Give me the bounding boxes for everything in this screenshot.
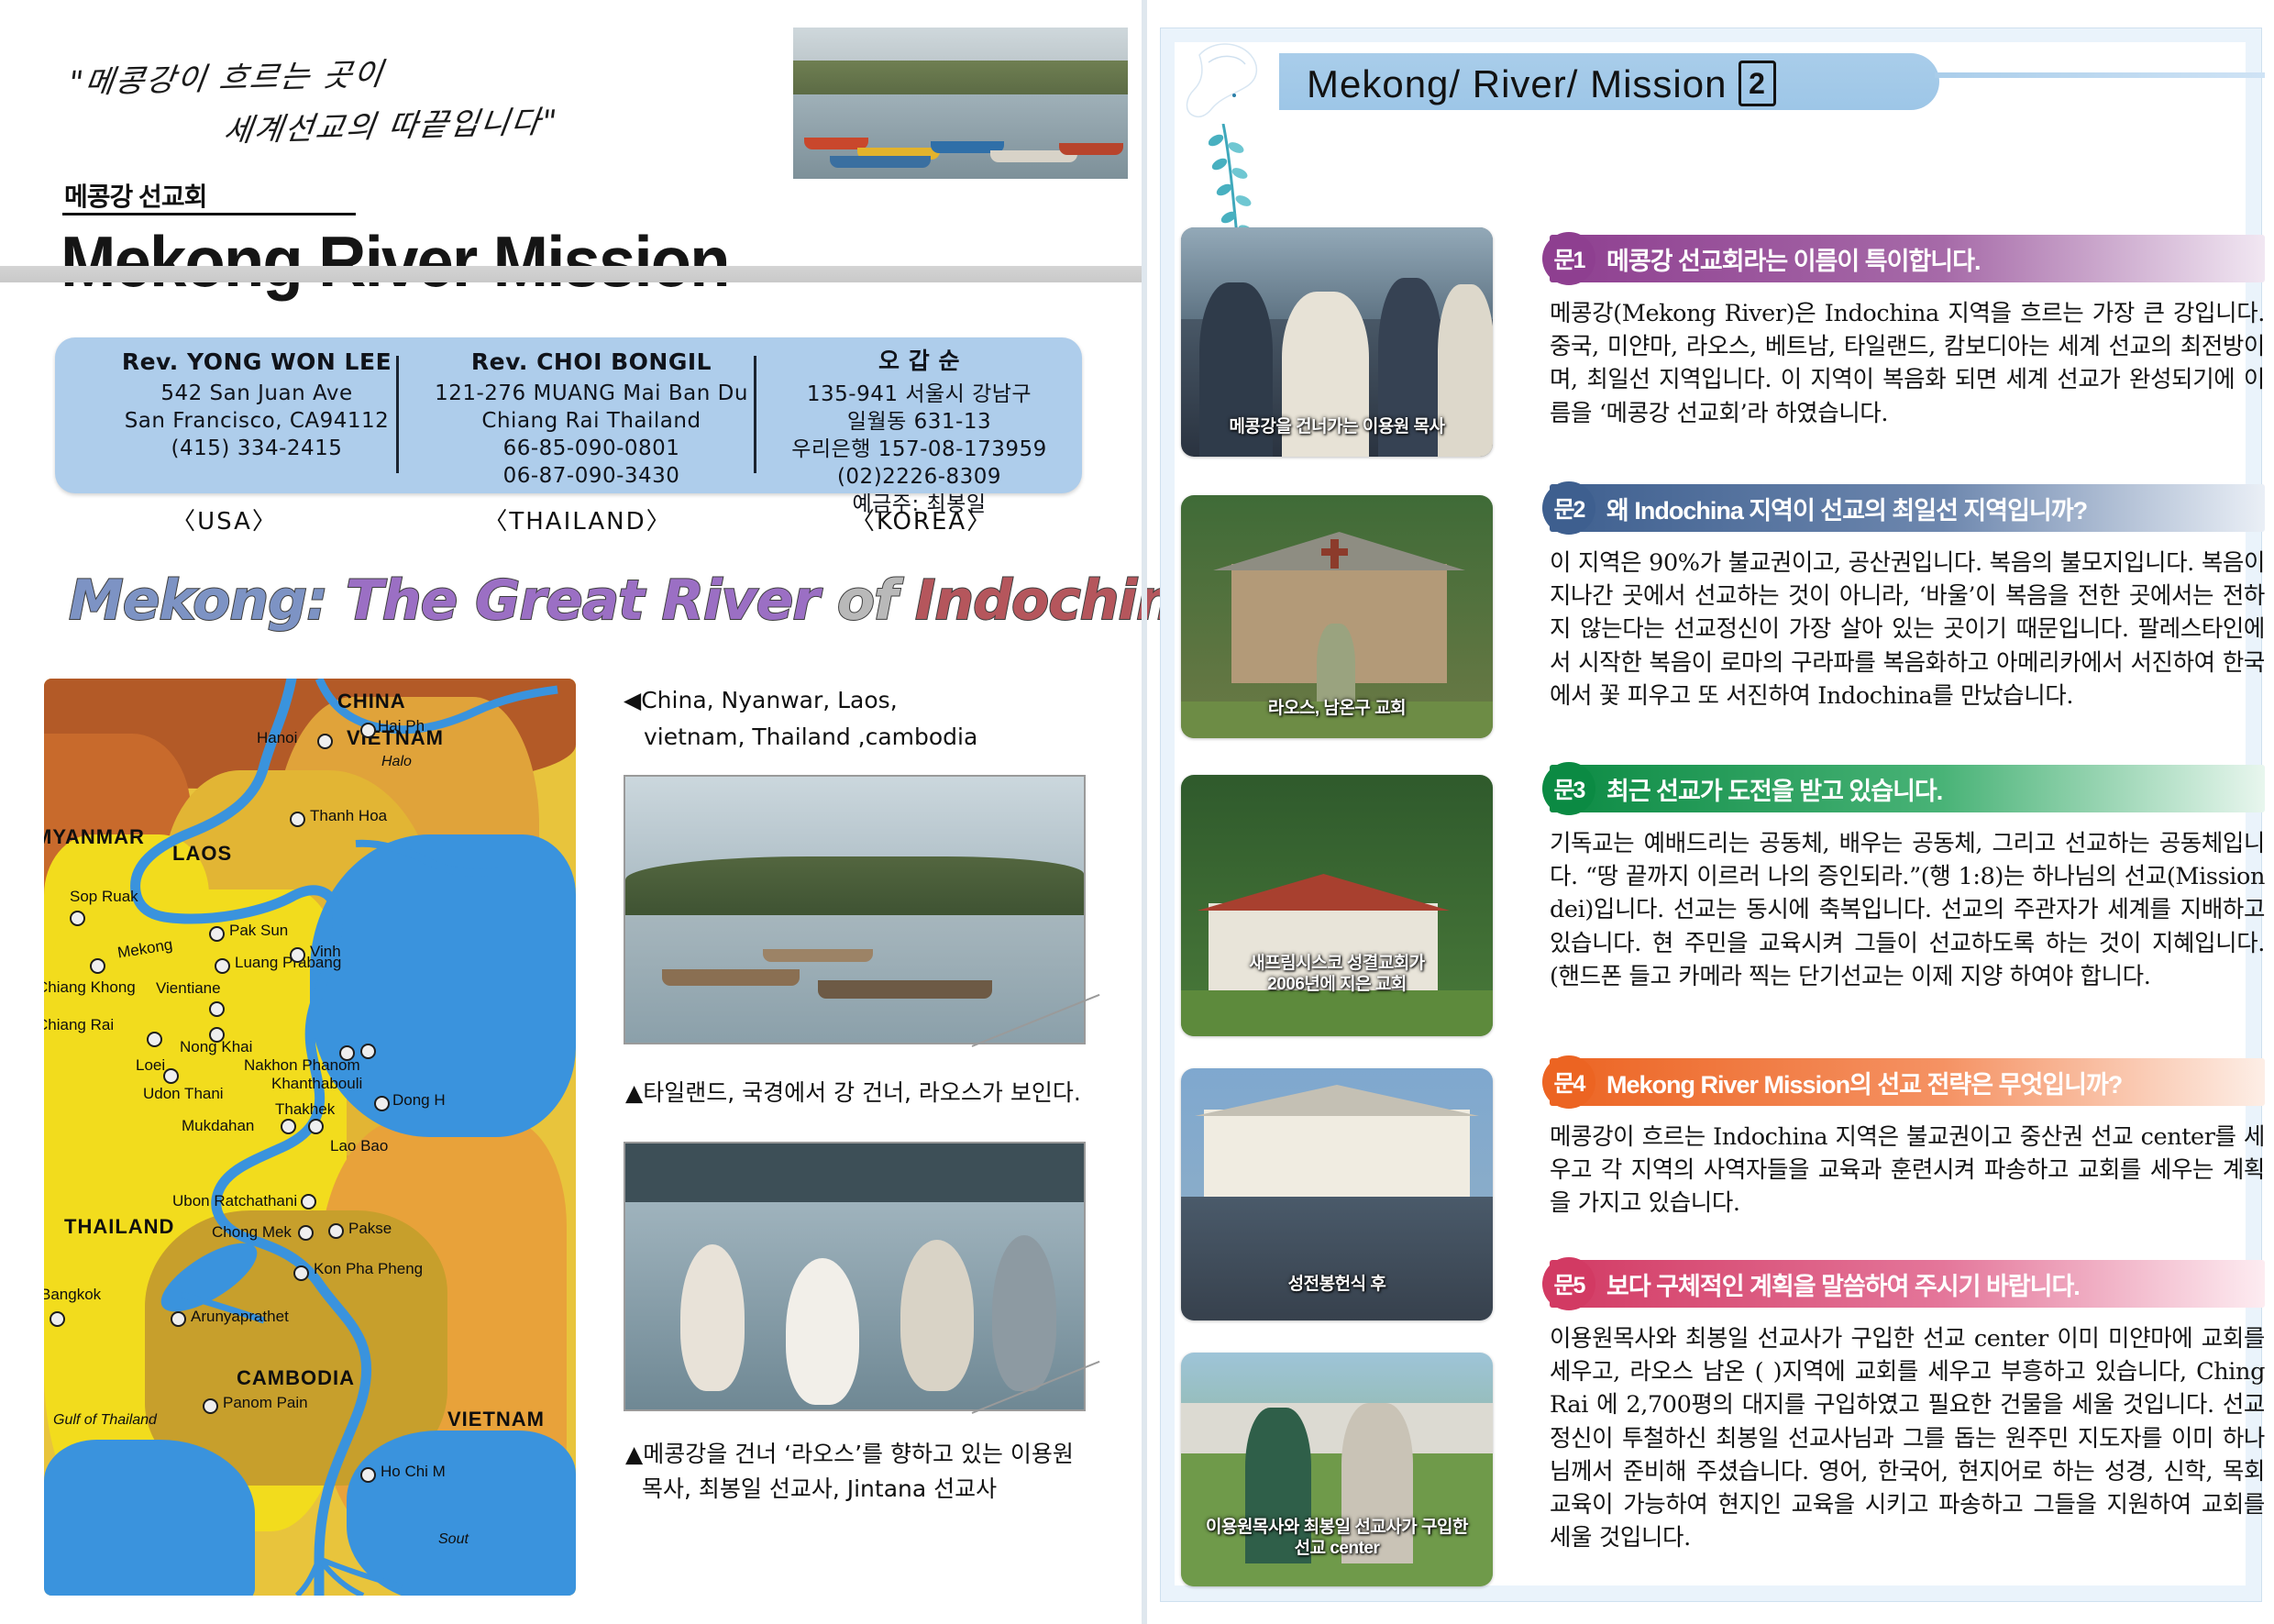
contact-line: (415) 334-2415: [64, 436, 449, 463]
caption-photo-3-line-2: 2006년에 지은 교회: [1181, 975, 1493, 996]
question-bar: 문5 보다 구체적인 계획을 말씀하여 주시기 바랍니다.: [1550, 1260, 2265, 1308]
question-badge: 문1: [1542, 232, 1595, 285]
cross-icon: [1321, 548, 1348, 556]
question-bar: 문2 왜 Indochina 지역이 선교의 최일선 지역입니까?: [1550, 484, 2265, 532]
answer-text: 메콩강(Mekong River)은 Indochina 지역을 흐르는 가장 …: [1550, 297, 2265, 430]
map-city-nong-khai: Nong Khai: [180, 1038, 252, 1056]
map-city-kon-pha-pheng: Kon Pha Pheng: [314, 1260, 423, 1278]
map-city-dot: [290, 947, 305, 963]
map-city-mukdahan: Mukdahan: [182, 1117, 254, 1135]
person-shape: [786, 1258, 859, 1405]
photo-hill: [625, 856, 1084, 915]
mekong-headline: Mekong: The Great River of Indochina: [69, 569, 1210, 633]
banner-title-text: Mekong/ River/ Mission: [1307, 62, 1727, 105]
question-bar: 문3 최근 선교가 도전을 받고 있습니다.: [1550, 765, 2265, 812]
question-badge: 문5: [1542, 1257, 1595, 1310]
map-city-chong-mek: Chong Mek: [212, 1223, 292, 1242]
contact-line: Chiang Rai Thailand: [403, 408, 779, 436]
map-city-khanthabouli: Khanthabouli: [271, 1075, 362, 1093]
brush-quote-line-1: "메콩강이 흐르는 곳이: [66, 49, 388, 103]
map-city-dot: [293, 1265, 309, 1281]
map-city-pak-sun: Pak Sun: [229, 922, 288, 940]
contact-name: Rev. CHOI BONGIL: [403, 348, 779, 375]
map-city-dot: [70, 911, 85, 926]
contact-line: San Francisco, CA94112: [64, 408, 449, 436]
indochina-map: CHINA MYANMAR LAOS VIETNAM THAILAND CAMB…: [44, 679, 576, 1596]
map-city-hai-phong: Hai Ph: [378, 717, 425, 735]
page-title: Mekong River Mission: [61, 220, 729, 304]
map-city-vientiane: Vientiane: [156, 979, 221, 998]
question-text: 최근 선교가 도전을 받고 있습니다.: [1606, 765, 1942, 812]
boat-shape: [818, 980, 992, 999]
photo-thailand-border-river: [624, 775, 1086, 1044]
question-bar: 문1 메콩강 선교회라는 이름이 특이합니다.: [1550, 235, 2265, 282]
map-city-udon-thani: Udon Thani: [143, 1085, 224, 1103]
map-city-arunyaprathet: Arunyaprathet: [191, 1308, 289, 1326]
map-sea-label-gulf: Gulf of Thailand: [53, 1412, 157, 1429]
person-shape: [900, 1240, 974, 1391]
map-city-thakhek: Thakhek: [275, 1100, 335, 1119]
contact-box: Rev. YONG WON LEE 542 San Juan Ave San F…: [55, 337, 1082, 493]
grass-area: [1181, 990, 1493, 1036]
caption-photo-b-line-2: 목사, 최봉일 선교사, Jintana 선교사: [642, 1475, 997, 1503]
caption-countries-line-2: vietnam, Thailand ,cambodia: [644, 723, 977, 751]
contact-line: 06-87-090-3430: [403, 463, 779, 491]
map-city-dot: [360, 1467, 376, 1483]
contact-line: 66-85-090-0801: [403, 436, 779, 463]
caption-photo-3: 새프림시스코 성결교회가 2006년에 지은 교회: [1181, 954, 1493, 996]
map-city-dot: [308, 1119, 324, 1134]
caption-photo-a: ▲타일랜드, 국경에서 강 건너, 라오스가 보인다.: [625, 1078, 1081, 1107]
contact-line: (02)2226-8309: [766, 464, 1073, 492]
map-label-myanmar: MYANMAR: [44, 825, 145, 849]
map-sea-label-south-china: Sout: [438, 1531, 469, 1548]
photo-crossing-mekong-people: [624, 1142, 1086, 1411]
question-text: 왜 Indochina 지역이 선교의 최일선 지역입니까?: [1606, 484, 2087, 532]
headline-word-great-river: The Great River: [346, 569, 819, 633]
map-city-ho-chi-minh: Ho Chi M: [381, 1463, 446, 1481]
map-label-laos: LAOS: [172, 842, 232, 866]
map-city-dot: [281, 1119, 296, 1134]
photo-mekong-boats: [793, 28, 1128, 179]
map-city-dot: [360, 1044, 376, 1059]
answer-text: 메콩강이 흐르는 Indochina 지역은 불교권이고 중산권 선교 cent…: [1550, 1121, 2265, 1221]
country-label-thailand: 〈THAILAND〉: [403, 503, 752, 536]
question-bar: 문4 Mekong River Mission의 선교 전략은 무엇입니까?: [1550, 1058, 2265, 1106]
header-grey-band: [0, 266, 1142, 282]
map-label-vietnam-south: VIETNAM: [447, 1408, 545, 1431]
person-shape: [992, 1235, 1056, 1391]
caption-photo-5: 이용원목사와 최봉일 선교사가 구입한 선교 center: [1181, 1518, 1493, 1560]
page-divider: [1142, 0, 1147, 1624]
contact-line: 121-276 MUANG Mai Ban Du: [403, 381, 779, 408]
map-city-dot: [317, 734, 333, 749]
map-city-dot: [339, 1045, 355, 1061]
qa-block-3: 문3 최근 선교가 도전을 받고 있습니다. 기독교는 예배드리는 공동체, 배…: [1550, 765, 2265, 993]
contact-divider: [754, 356, 756, 473]
headline-word-mekong: Mekong:: [69, 569, 327, 633]
person-shape: [680, 1244, 745, 1391]
contact-line: 일월동 631-13: [766, 409, 1073, 436]
church-roof: [1198, 874, 1450, 911]
map-city-dot: [171, 1311, 186, 1327]
building-row: [1181, 1403, 1493, 1453]
qa-block-4: 문4 Mekong River Mission의 선교 전략은 무엇입니까? 메…: [1550, 1058, 2265, 1221]
map-city-dot: [374, 1096, 390, 1111]
answer-text: 이 지역은 90%가 불교권이고, 공산권입니다. 복음의 불모지입니다. 복음…: [1550, 547, 2265, 713]
crowd-area: [1181, 1197, 1493, 1320]
banner-page-number: 2: [1739, 61, 1776, 106]
map-city-panom-pain: Panom Pain: [223, 1394, 308, 1412]
country-label-korea: 〈KOREA〉: [761, 503, 1082, 536]
qa-block-1: 문1 메콩강 선교회라는 이름이 특이합니다. 메콩강(Mekong River…: [1550, 235, 2265, 430]
contact-usa: Rev. YONG WON LEE 542 San Juan Ave San F…: [64, 348, 449, 482]
map-city-chiang-rai: Chiang Rai: [44, 1016, 114, 1034]
map-city-loei: Loei: [136, 1056, 165, 1075]
country-label-usa: 〈USA〉: [55, 503, 394, 536]
qa-block-2: 문2 왜 Indochina 지역이 선교의 최일선 지역입니까? 이 지역은 …: [1550, 484, 2265, 713]
map-city-dot: [360, 723, 376, 738]
question-badge: 문2: [1542, 481, 1595, 535]
map-city-lao-bao: Lao Bao: [330, 1137, 388, 1155]
boat-shape: [662, 969, 800, 986]
banner-title: Mekong/ River/ Mission 2: [1307, 61, 1776, 106]
headline-word-of: of: [837, 569, 897, 633]
map-city-dot: [203, 1398, 218, 1414]
contact-line: 135-941 서울시 강남구: [766, 381, 1073, 409]
contact-divider: [396, 356, 399, 473]
map-city-sop-ruak: Sop Ruak: [70, 888, 138, 906]
map-label-cambodia: CAMBODIA: [237, 1366, 355, 1390]
map-city-dot: [290, 812, 305, 827]
map-city-dot: [209, 926, 225, 942]
photo-hill: [793, 61, 1128, 94]
contact-name: Rev. YONG WON LEE: [64, 348, 449, 375]
question-text: 메콩강 선교회라는 이름이 특이합니다.: [1606, 235, 1980, 282]
banner-tail-rule: [1935, 72, 2265, 78]
brush-quote: "메콩강이 흐르는 곳이 세계선교의 따끝입니다": [64, 53, 706, 154]
contact-thailand: Rev. CHOI BONGIL 121-276 MUANG Mai Ban D…: [403, 348, 779, 482]
caption-photo-1: 메콩강을 건너가는 이용원 목사: [1181, 417, 1493, 438]
map-city-ubon-ratchathani: Ubon Ratchathani: [172, 1192, 297, 1210]
map-label-china: CHINA: [337, 690, 406, 713]
caption-photo-4: 성전봉헌식 후: [1181, 1275, 1493, 1296]
contact-line: 우리은행 157-08-173959: [766, 436, 1073, 464]
brush-quote-line-2: 세계선교의 따끝입니다": [221, 96, 561, 150]
question-badge: 문3: [1542, 762, 1595, 815]
map-city-dot: [328, 1223, 344, 1239]
contact-line: 542 San Juan Ave: [64, 381, 449, 408]
photo-church-built-2006: [1181, 775, 1493, 1036]
left-page: "메콩강이 흐르는 곳이 세계선교의 따끝입니다" 메콩강 선교회 Mekong…: [0, 0, 1142, 1624]
map-city-chiang-khong: Chiang Khong: [44, 978, 136, 997]
church-roof: [1195, 1085, 1479, 1116]
caption-photo-2: 라오스, 남온구 교회: [1181, 699, 1493, 720]
map-city-dot: [301, 1194, 316, 1210]
answer-text: 이용원목사와 최봉일 선교사가 구입한 선교 center 이미 미얀마에 교회…: [1550, 1322, 2265, 1554]
qa-block-5: 문5 보다 구체적인 계획을 말씀하여 주시기 바랍니다. 이용원목사와 최봉일…: [1550, 1260, 2265, 1554]
map-city-pakse: Pakse: [348, 1220, 392, 1238]
map-city-dot: [215, 958, 230, 974]
contact-name: 오 갑 순: [766, 343, 1073, 376]
map-city-dot: [298, 1225, 314, 1241]
question-text: Mekong River Mission의 선교 전략은 무엇입니까?: [1606, 1058, 2122, 1106]
map-city-dot: [50, 1311, 65, 1327]
map-city-dot: [147, 1032, 162, 1047]
organization-name-korean: 메콩강 선교회: [64, 177, 206, 214]
map-city-hanoi: Hanoi: [257, 729, 297, 747]
question-badge: 문4: [1542, 1055, 1595, 1109]
answer-text: 기독교는 예배드리는 공동체, 배우는 공동체, 그리고 선교하는 공동체입니다…: [1550, 827, 2265, 993]
map-city-bangkok: Bangkok: [44, 1286, 101, 1304]
map-city-dot: [90, 958, 105, 974]
title-divider-rule: [62, 213, 356, 215]
caption-photo-5-line-1: 이용원목사와 최봉일 선교사가 구입한: [1181, 1518, 1493, 1539]
map-city-vinh: Vinh: [310, 943, 341, 961]
caption-photo-5-line-2: 선교 center: [1181, 1539, 1493, 1560]
church-building: [1204, 1110, 1470, 1197]
boat-shape: [1059, 143, 1123, 155]
map-label-thailand: THAILAND: [64, 1215, 174, 1239]
map-city-thanh-hoa: Thanh Hoa: [310, 807, 387, 825]
map-sea-label-halong: Halo: [381, 754, 412, 770]
map-city-dot: [209, 1001, 225, 1017]
map-city-dot: [163, 1068, 179, 1084]
photo-canopy: [625, 1143, 1084, 1202]
question-text: 보다 구체적인 계획을 말씀하여 주시기 바랍니다.: [1606, 1260, 2080, 1308]
boat-shape: [763, 949, 873, 962]
caption-countries-line-1: ◀China, Nyanwar, Laos,: [624, 686, 898, 714]
caption-photo-b-line-1: ▲메콩강을 건너 ‘라오스’를 향하고 있는 이용원: [625, 1440, 1074, 1468]
boat-shape: [830, 156, 931, 168]
caption-photo-3-line-1: 새프림시스코 성결교회가: [1181, 954, 1493, 975]
map-city-dong-ha: Dong H: [392, 1091, 446, 1110]
contact-korea: 오 갑 순 135-941 서울시 강남구 일월동 631-13 우리은행 15…: [766, 343, 1073, 477]
